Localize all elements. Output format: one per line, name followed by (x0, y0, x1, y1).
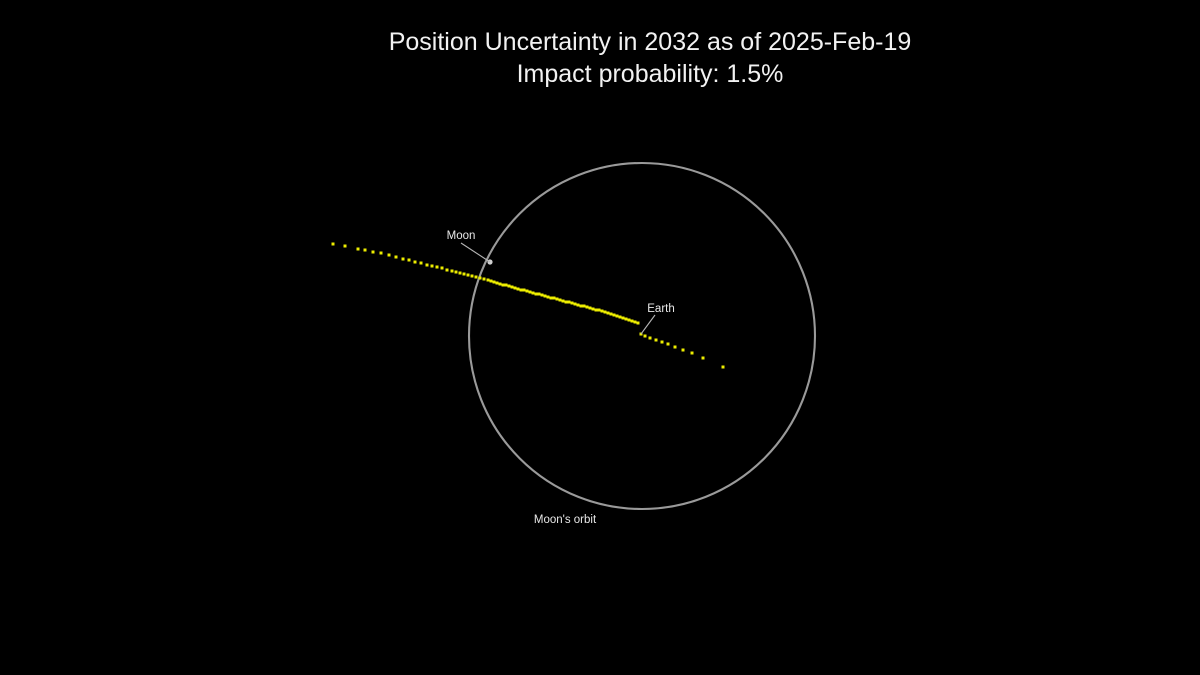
uncertainty-point (332, 243, 335, 246)
uncertainty-point (357, 248, 360, 251)
uncertainty-point (655, 339, 658, 342)
uncertainty-point (601, 310, 604, 313)
uncertainty-point (431, 265, 434, 268)
uncertainty-point (514, 287, 517, 290)
uncertainty-point (446, 269, 449, 272)
uncertainty-point (388, 254, 391, 257)
uncertainty-point (622, 317, 625, 320)
uncertainty-point (420, 262, 423, 265)
uncertainty-point (529, 291, 532, 294)
uncertainty-point (550, 297, 553, 300)
moons-orbit-label: Moon's orbit (534, 514, 597, 526)
uncertainty-point (616, 315, 619, 318)
uncertainty-point (436, 266, 439, 269)
uncertainty-point (649, 337, 652, 340)
uncertainty-point (661, 341, 664, 344)
uncertainty-point (455, 271, 458, 274)
uncertainty-point (508, 285, 511, 288)
uncertainty-point (559, 299, 562, 302)
uncertainty-point (574, 303, 577, 306)
earth-label: Earth (647, 303, 675, 315)
chart-title-line-1: Position Uncertainty in 2032 as of 2025-… (389, 28, 912, 56)
uncertainty-point (499, 283, 502, 286)
uncertainty-point (532, 292, 535, 295)
uncertainty-point (682, 349, 685, 352)
uncertainty-point (568, 301, 571, 304)
uncertainty-point (395, 256, 398, 259)
chart-subtitle-impact-probability: Impact probability: 1.5% (517, 60, 784, 88)
uncertainty-point (637, 322, 640, 325)
position-uncertainty-figure: Position Uncertainty in 2032 as of 2025-… (0, 0, 1200, 675)
uncertainty-point (595, 309, 598, 312)
uncertainty-point (586, 306, 589, 309)
uncertainty-point (589, 307, 592, 310)
uncertainty-point (402, 258, 405, 261)
uncertainty-point (441, 267, 444, 270)
uncertainty-point (634, 321, 637, 324)
uncertainty-point (344, 245, 347, 248)
uncertainty-point (674, 346, 677, 349)
uncertainty-point (523, 289, 526, 292)
uncertainty-point (702, 357, 705, 360)
uncertainty-point (511, 286, 514, 289)
uncertainty-point (517, 288, 520, 291)
uncertainty-point (691, 352, 694, 355)
uncertainty-point (535, 293, 538, 296)
uncertainty-point (496, 282, 499, 285)
uncertainty-point (541, 294, 544, 297)
uncertainty-point (631, 320, 634, 323)
uncertainty-point (380, 252, 383, 255)
uncertainty-point (604, 311, 607, 314)
uncertainty-point (479, 277, 482, 280)
figure-background (0, 0, 1200, 675)
uncertainty-point (490, 280, 493, 283)
uncertainty-point (580, 305, 583, 308)
uncertainty-point (502, 284, 505, 287)
uncertainty-point (547, 296, 550, 299)
uncertainty-point (526, 290, 529, 293)
uncertainty-point (408, 259, 411, 262)
uncertainty-point (520, 289, 523, 292)
uncertainty-point (598, 309, 601, 312)
uncertainty-point (565, 301, 568, 304)
uncertainty-point (583, 305, 586, 308)
uncertainty-point (475, 276, 478, 279)
uncertainty-point (493, 281, 496, 284)
uncertainty-point (372, 251, 375, 254)
uncertainty-point (414, 261, 417, 264)
uncertainty-point (451, 270, 454, 273)
uncertainty-point (644, 335, 647, 338)
uncertainty-point (505, 284, 508, 287)
uncertainty-point (463, 273, 466, 276)
uncertainty-point (610, 313, 613, 316)
uncertainty-point (722, 366, 725, 369)
uncertainty-point (544, 295, 547, 298)
uncertainty-point (577, 304, 580, 307)
uncertainty-point (625, 318, 628, 321)
uncertainty-point (487, 279, 490, 282)
uncertainty-point (426, 264, 429, 267)
uncertainty-point (562, 300, 565, 303)
uncertainty-point (571, 302, 574, 305)
uncertainty-point (619, 316, 622, 319)
uncertainty-point (607, 312, 610, 315)
uncertainty-point (459, 272, 462, 275)
uncertainty-point (613, 314, 616, 317)
uncertainty-point (483, 278, 486, 281)
uncertainty-point (538, 293, 541, 296)
uncertainty-point (592, 308, 595, 311)
uncertainty-point (553, 297, 556, 300)
uncertainty-point (467, 274, 470, 277)
moon-label: Moon (447, 230, 476, 242)
uncertainty-point (471, 275, 474, 278)
uncertainty-point (628, 319, 631, 322)
uncertainty-point (667, 343, 670, 346)
uncertainty-point (364, 249, 367, 252)
uncertainty-point (556, 298, 559, 301)
